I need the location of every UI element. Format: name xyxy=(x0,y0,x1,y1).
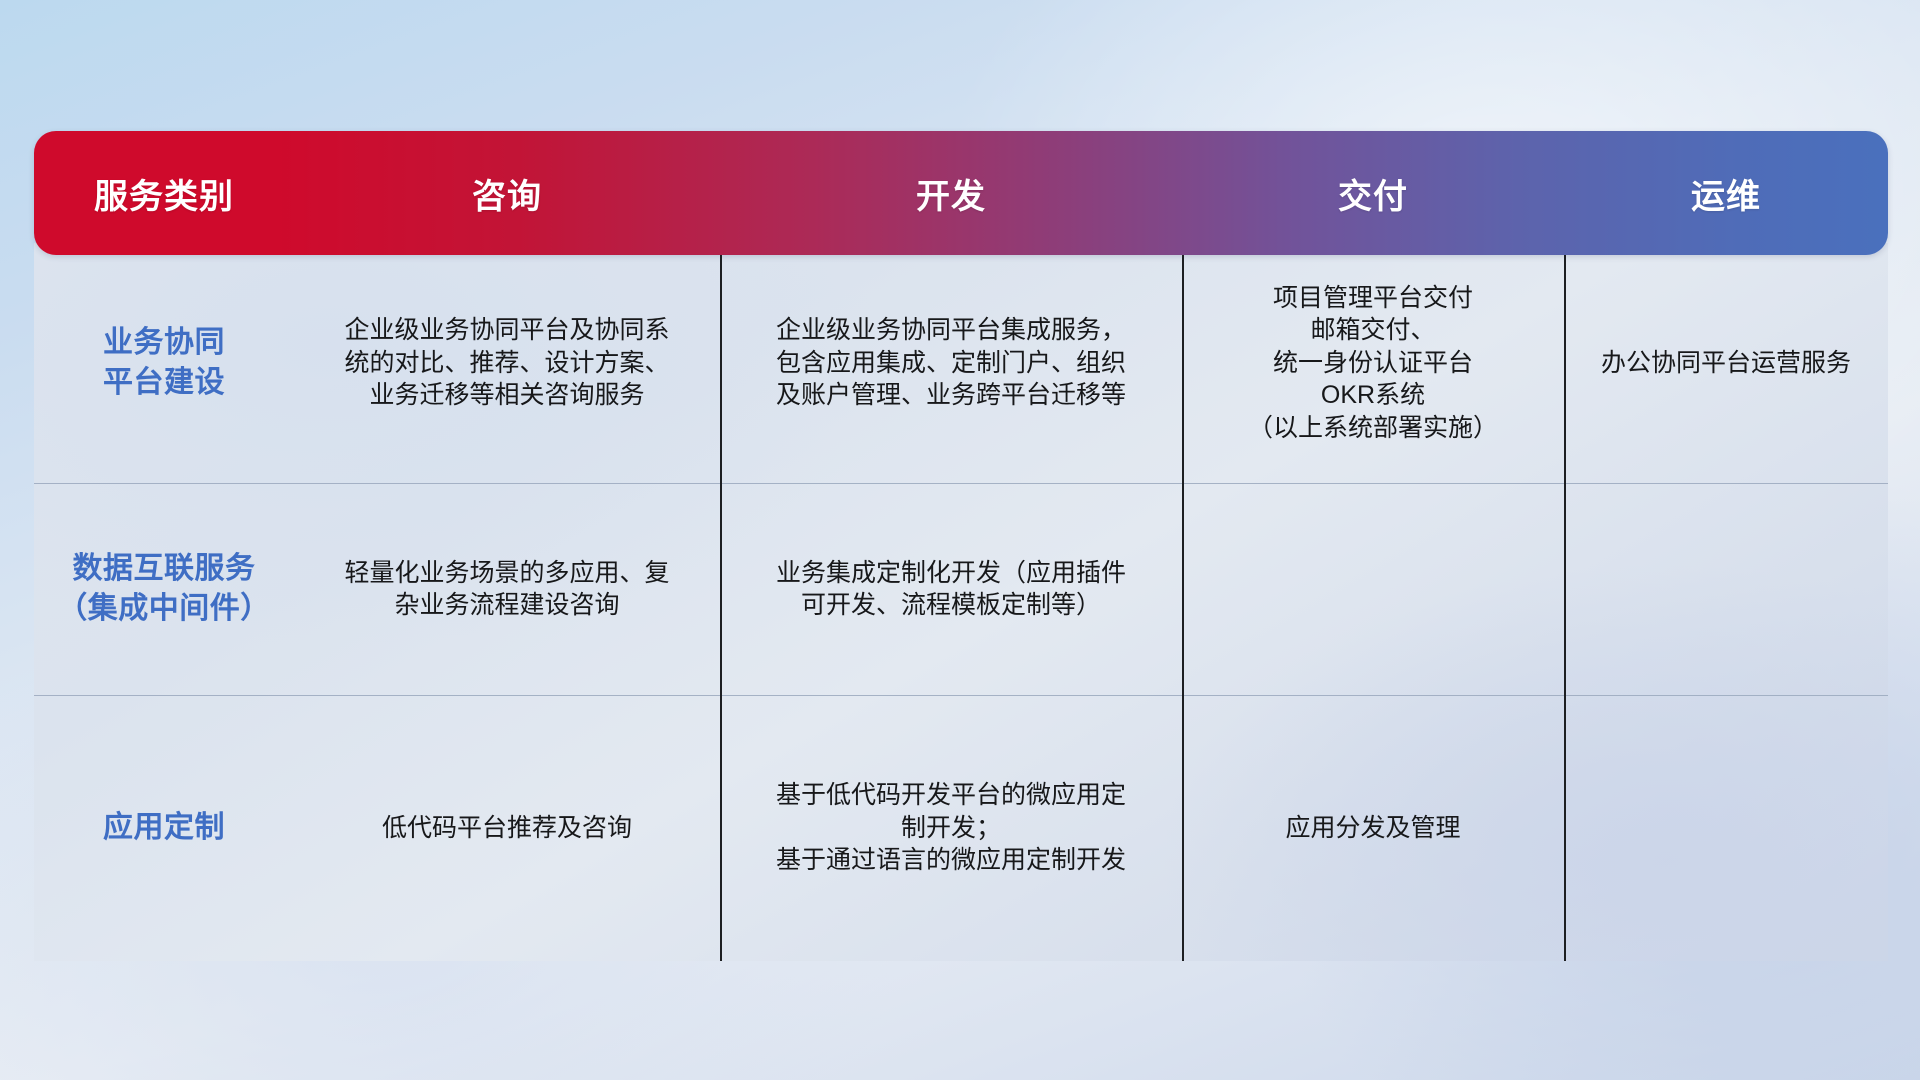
table-grid: 业务协同 平台建设 企业级业务协同平台及协同系 统的对比、推荐、设计方案、 业务… xyxy=(34,243,1888,961)
header-cell-consulting: 咨询 xyxy=(294,169,720,218)
cell-consulting: 低代码平台推荐及咨询 xyxy=(294,695,720,961)
row-category-label: 业务协同 平台建设 xyxy=(34,243,294,483)
table-row: 数据互联服务 （集成中间件） 轻量化业务场景的多应用、复 杂业务流程建设咨询 业… xyxy=(34,483,1888,695)
table-row: 业务协同 平台建设 企业级业务协同平台及协同系 统的对比、推荐、设计方案、 业务… xyxy=(34,243,1888,483)
cell-delivery xyxy=(1182,483,1564,695)
cell-delivery: 应用分发及管理 xyxy=(1182,695,1564,961)
table-row: 应用定制 低代码平台推荐及咨询 基于低代码开发平台的微应用定 制开发； 基于通过… xyxy=(34,695,1888,961)
row-category-label: 数据互联服务 （集成中间件） xyxy=(34,483,294,695)
slide-canvas: 服务类别 咨询 开发 交付 运维 业务协同 平台建设 企业级业务协同平台及协同系… xyxy=(0,0,1920,1080)
service-matrix-table: 服务类别 咨询 开发 交付 运维 业务协同 平台建设 企业级业务协同平台及协同系… xyxy=(34,131,1888,961)
cell-consulting: 企业级业务协同平台及协同系 统的对比、推荐、设计方案、 业务迁移等相关咨询服务 xyxy=(294,243,720,483)
cell-consulting: 轻量化业务场景的多应用、复 杂业务流程建设咨询 xyxy=(294,483,720,695)
header-cell-development: 开发 xyxy=(720,169,1182,218)
header-cell-operations: 运维 xyxy=(1564,169,1888,218)
cell-operations xyxy=(1564,483,1888,695)
cell-operations: 办公协同平台运营服务 xyxy=(1564,243,1888,483)
cell-operations xyxy=(1564,695,1888,961)
row-divider xyxy=(34,483,1888,484)
cell-delivery: 项目管理平台交付 邮箱交付、 统一身份认证平台 OKR系统 （以上系统部署实施） xyxy=(1182,243,1564,483)
header-cell-delivery: 交付 xyxy=(1182,169,1564,218)
header-cell-category: 服务类别 xyxy=(34,169,294,218)
column-divider xyxy=(1182,255,1184,961)
table-header-row: 服务类别 咨询 开发 交付 运维 xyxy=(34,131,1888,255)
row-category-label: 应用定制 xyxy=(34,695,294,961)
row-divider xyxy=(34,695,1888,696)
cell-development: 基于低代码开发平台的微应用定 制开发； 基于通过语言的微应用定制开发 xyxy=(720,695,1182,961)
column-divider xyxy=(720,255,722,961)
column-divider xyxy=(1564,255,1566,961)
cell-development: 企业级业务协同平台集成服务， 包含应用集成、定制门户、组织 及账户管理、业务跨平… xyxy=(720,243,1182,483)
cell-development: 业务集成定制化开发（应用插件 可开发、流程模板定制等） xyxy=(720,483,1182,695)
